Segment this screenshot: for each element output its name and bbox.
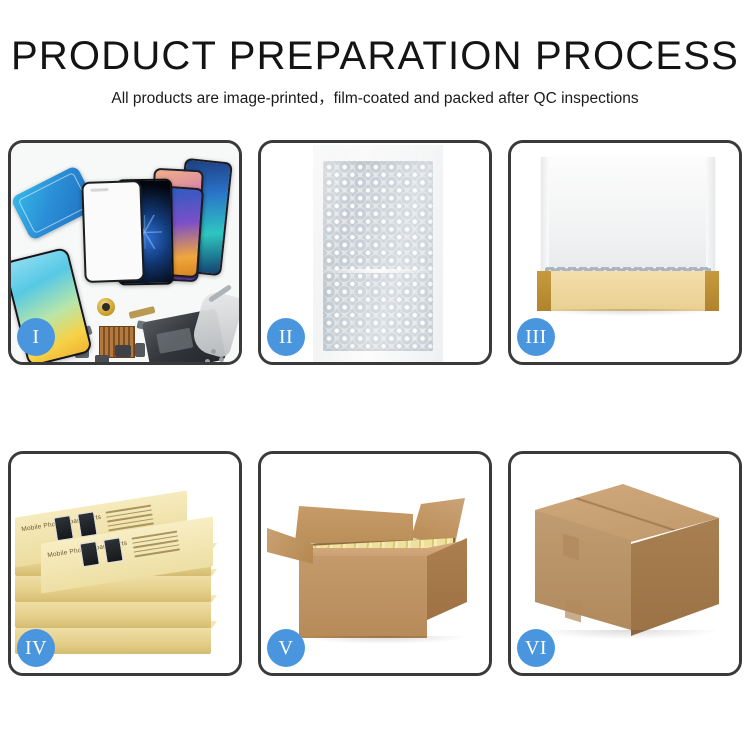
carton-tape-mark (565, 598, 581, 623)
phone-thumbnail-icon (79, 541, 100, 567)
gold-flex-cable-icon (129, 306, 156, 319)
kraft-tray-right-edge (705, 271, 719, 311)
wireless-charging-coil-icon (97, 298, 115, 316)
carton-front-face (299, 556, 427, 638)
step-panel-3: III (508, 140, 742, 365)
step-panel-2: II (258, 140, 492, 365)
step-badge-2: II (267, 318, 305, 356)
camera-module-b-icon (135, 343, 145, 357)
screw-icon (205, 359, 210, 364)
step-badge-5: V (267, 629, 305, 667)
kraft-tray-icon (537, 271, 719, 311)
screw-icon (219, 357, 224, 362)
product-preparation-process-infographic: PRODUCT PREPARATION PROCESS All products… (0, 0, 750, 750)
white-foam-sheet-icon (541, 157, 715, 285)
step-badge-3: III (517, 318, 555, 356)
step-panel-1: I (8, 140, 242, 365)
step-badge-1: I (17, 318, 55, 356)
plastic-sheen-overlay (313, 145, 443, 365)
drop-shadow (301, 636, 467, 644)
tempered-glass-icon (81, 180, 144, 283)
retail-box-layer (15, 602, 211, 628)
phone-thumbnail-icon (104, 537, 125, 563)
page-title: PRODUCT PREPARATION PROCESS (0, 34, 750, 79)
phone-thumbnail-icon (78, 511, 99, 537)
process-steps-grid: I II III (8, 140, 742, 680)
step-panel-4: Mobile Phone Spare Parts Mobile Phone Sp… (8, 451, 242, 676)
screw-icon (211, 349, 216, 354)
step-panel-5: V (258, 451, 492, 676)
step-badge-4: IV (17, 629, 55, 667)
drop-shadow (541, 630, 717, 639)
phone-thumbnail-icon (53, 515, 74, 541)
camera-module-a-icon (115, 345, 131, 357)
carton-tape-mark (563, 534, 579, 561)
drop-shadow (541, 309, 715, 316)
step-panel-6: VI (508, 451, 742, 676)
speaker-module-icon (95, 355, 109, 364)
kraft-tray-left-edge (537, 271, 551, 311)
page-subtitle: All products are image-printed，film-coat… (0, 86, 750, 108)
step-badge-6: VI (517, 629, 555, 667)
